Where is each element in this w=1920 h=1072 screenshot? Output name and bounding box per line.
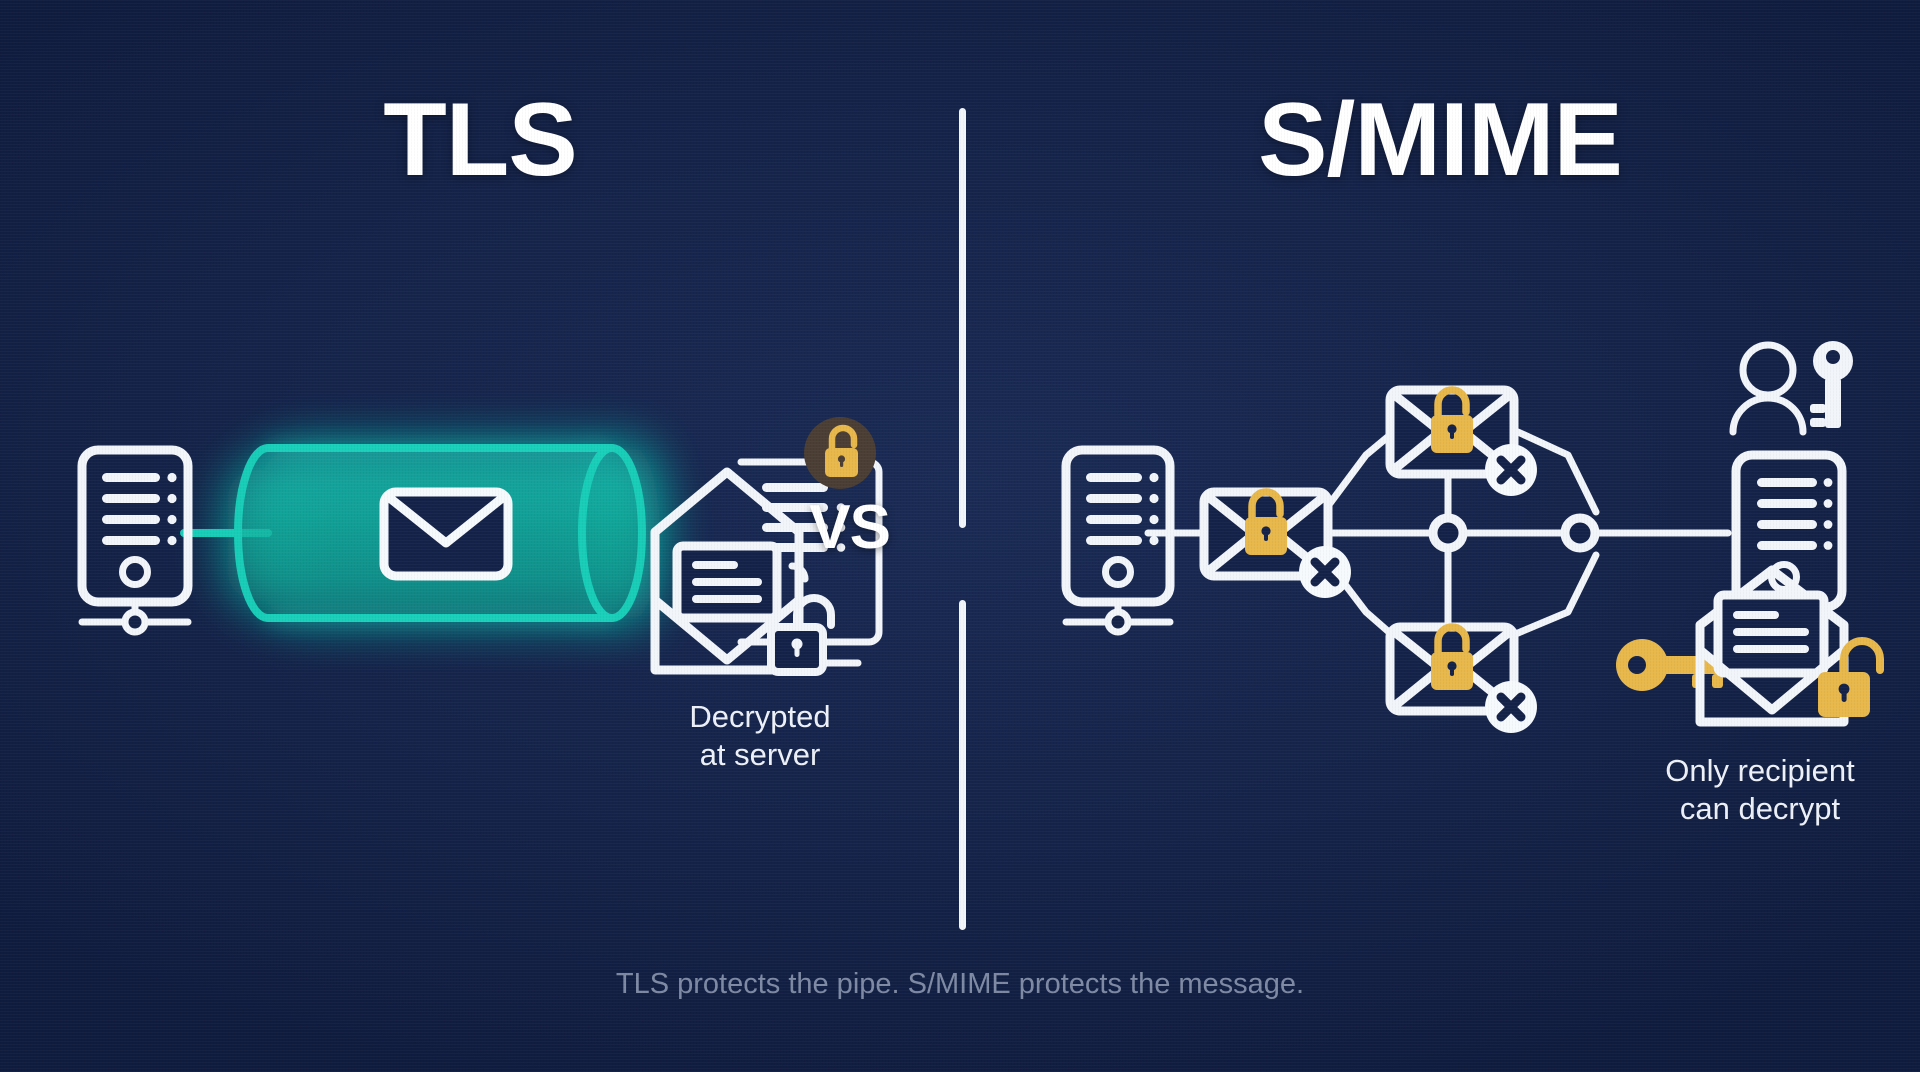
sealed-envelope-icon <box>1390 390 1537 496</box>
divider-line-top <box>959 108 966 528</box>
sender-server-icon <box>1066 450 1170 632</box>
gold-key-icon <box>1616 639 1724 691</box>
caption-decrypted-at-server: Decrypted at server <box>600 698 920 774</box>
page-title-tls: TLS <box>0 88 960 192</box>
private-key-icon <box>1810 341 1853 428</box>
recipient-person-icon <box>1733 345 1803 432</box>
footer-summary: TLS protects the pipe. S/MIME protects t… <box>0 968 1920 1001</box>
infographic-canvas: TLS S/MIME VS Decrypted at server Only r… <box>0 0 1920 1072</box>
versus-label: VS <box>809 492 890 563</box>
no-access-badge-icon <box>1485 681 1537 733</box>
caption-only-recipient-can-decrypt: Only recipient can decrypt <box>1580 752 1920 828</box>
page-title-smime: S/MIME <box>960 88 1920 192</box>
network-node-icon <box>1433 518 1463 548</box>
sealed-envelope-icon <box>1204 492 1351 598</box>
divider-line-bottom <box>959 600 966 930</box>
sealed-envelope-icon <box>1390 627 1537 733</box>
no-access-badge-icon <box>1299 546 1351 598</box>
no-access-badge-icon <box>1485 444 1537 496</box>
network-node-icon <box>1565 518 1595 548</box>
